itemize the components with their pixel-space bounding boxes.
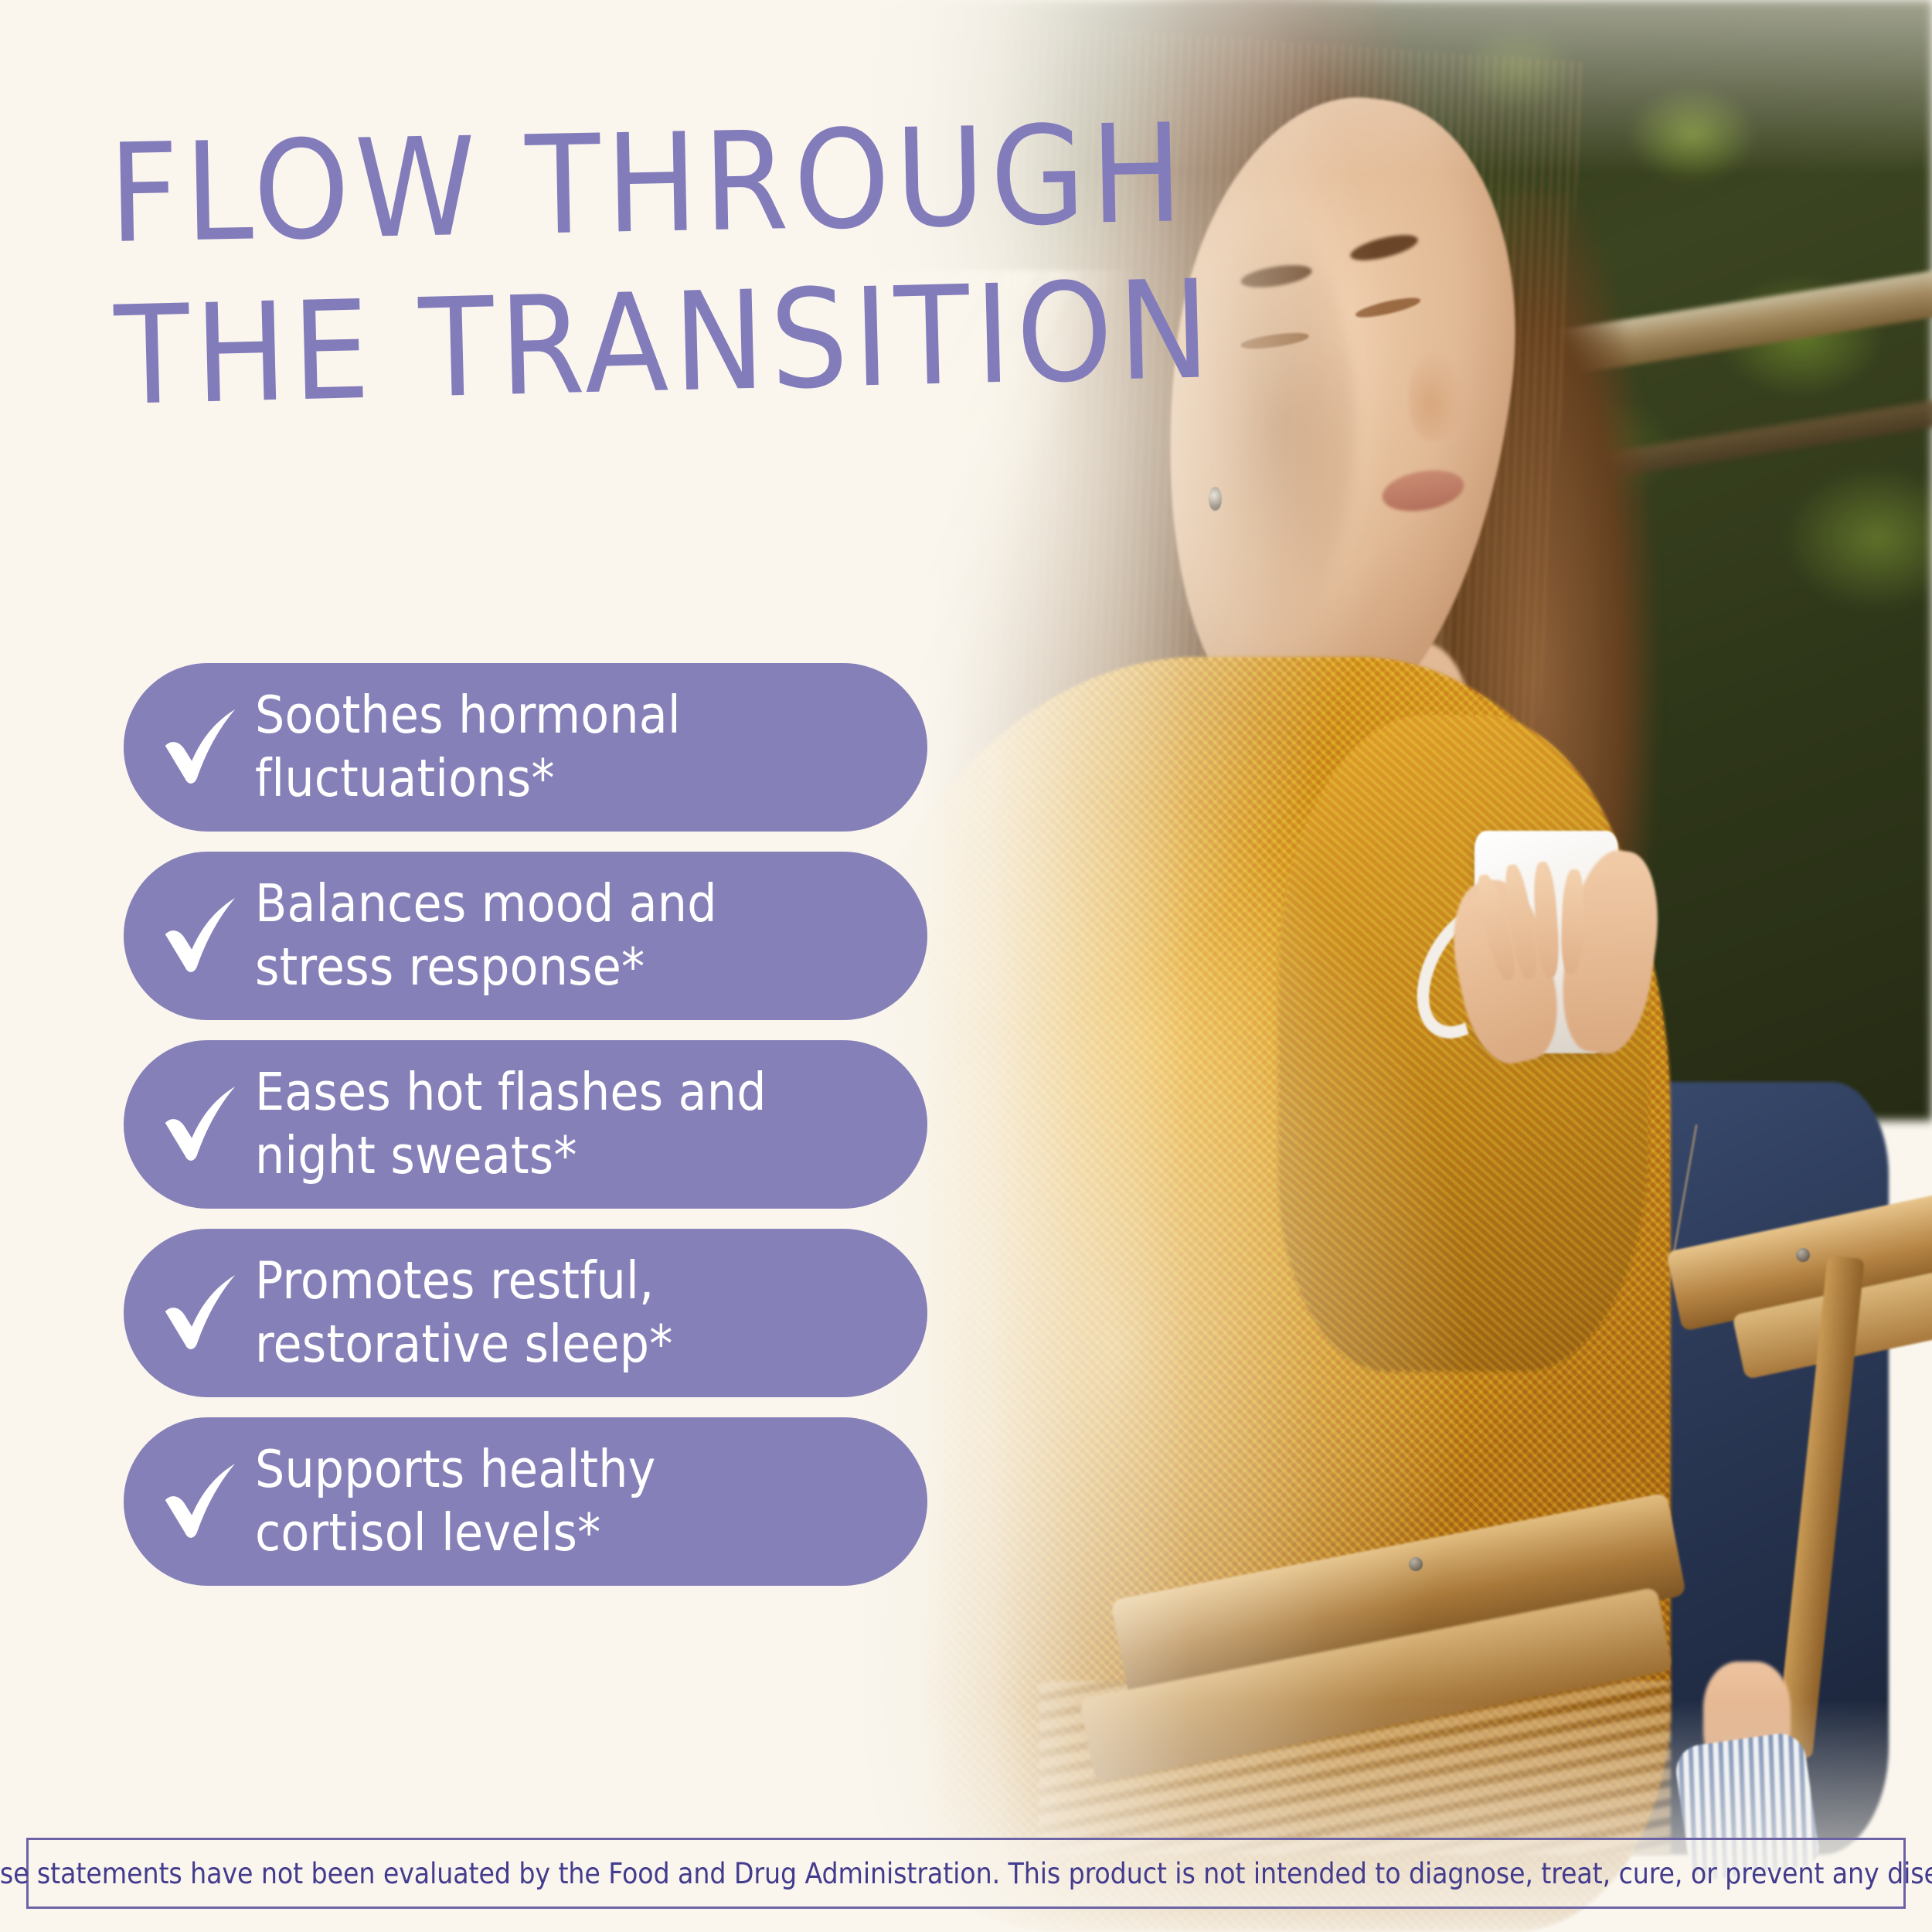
checkmark-icon: [156, 702, 247, 793]
checkmark-icon: [156, 890, 247, 981]
benefit-label: Eases hot flashes and night sweats*: [255, 1061, 767, 1187]
benefit-label: Balances mood and stress response*: [255, 872, 717, 998]
checkmark-icon: [156, 1267, 247, 1359]
benefit-label: Supports healthy cortisol levels*: [255, 1438, 656, 1564]
headline-line-1: FLOW THROUGH: [107, 94, 1189, 274]
headline-line-2: THE TRANSITION: [112, 250, 1217, 436]
checkmark-icon: [156, 1456, 247, 1547]
benefit-pill[interactable]: Supports healthy cortisol levels*: [124, 1417, 927, 1586]
benefit-pill[interactable]: Soothes hormonal fluctuations*: [124, 663, 927, 832]
benefits-list: Soothes hormonal fluctuations* Balances …: [124, 663, 927, 1586]
benefit-pill[interactable]: Balances mood and stress response*: [124, 852, 927, 1020]
poster-root: FLOW THROUGH THE TRANSITION Soothes horm…: [0, 0, 1932, 1932]
checkmark-icon: [156, 1079, 247, 1170]
fda-disclaimer-text: *These statements have not been evaluate…: [0, 1857, 1932, 1890]
benefit-pill[interactable]: Promotes restful, restorative sleep*: [124, 1229, 927, 1397]
headline: FLOW THROUGH THE TRANSITION: [110, 116, 1138, 448]
chair-bolt: [1796, 1248, 1810, 1262]
benefit-pill[interactable]: Eases hot flashes and night sweats*: [124, 1040, 927, 1209]
benefit-label: Promotes restful, restorative sleep*: [255, 1250, 673, 1376]
fda-disclaimer-box: *These statements have not been evaluate…: [26, 1838, 1906, 1909]
benefit-label: Soothes hormonal fluctuations*: [255, 684, 681, 810]
